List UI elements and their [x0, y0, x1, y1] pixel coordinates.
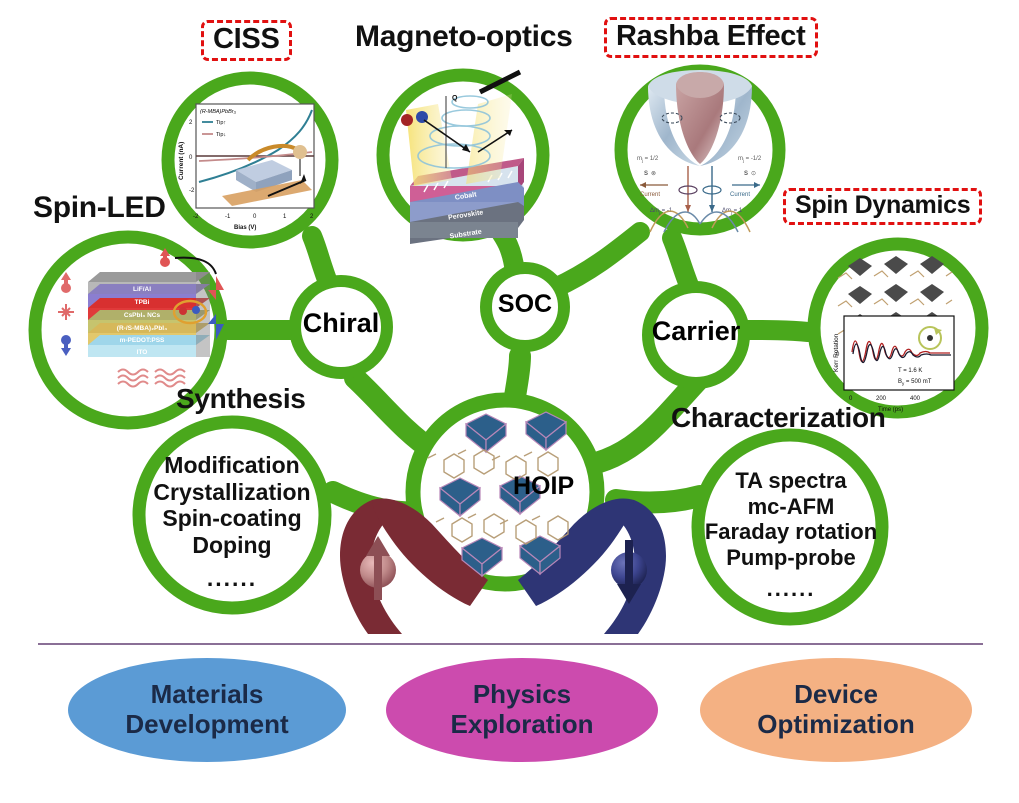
oval-line-1: Physics: [386, 680, 658, 710]
outcome-oval-materials-text: Materials Development: [68, 680, 346, 740]
svg-text:400: 400: [910, 396, 921, 402]
svg-text:CsPbI₃ NCs: CsPbI₃ NCs: [124, 312, 161, 319]
section-divider: [38, 643, 983, 645]
synthesis-ellipsis: ......: [142, 565, 322, 592]
oval-line-1: Materials: [68, 680, 346, 710]
svg-text:Q: Q: [452, 95, 458, 102]
label-rashba-effect: Rashba Effect: [604, 17, 818, 58]
figure-canvas: LiF/Al TPBi CsPbI₃ NCs (R-/S-MBA)₂PbI₄ m…: [0, 0, 1019, 803]
oval-line-2: Optimization: [700, 710, 972, 740]
characterization-item: Pump-probe: [697, 545, 885, 571]
outcome-oval-device[interactable]: Device Optimization: [700, 658, 972, 762]
svg-text:Current: Current: [640, 192, 660, 198]
svg-text:By = 500 mT: By = 500 mT: [898, 379, 932, 386]
svg-text:⊙: ⊙: [751, 171, 756, 177]
characterization-item: Faraday rotation: [697, 519, 885, 545]
synthesis-list: Modification Crystallization Spin-coatin…: [142, 452, 322, 591]
svg-text:mj = 1/2: mj = 1/2: [637, 156, 659, 163]
synthesis-item: Doping: [142, 532, 322, 559]
outcome-oval-device-text: Device Optimization: [700, 680, 972, 740]
svg-text:(R-MBA)PbBr₃: (R-MBA)PbBr₃: [200, 109, 237, 115]
label-characterization: Characterization: [671, 404, 886, 432]
label-synthesis: Synthesis: [176, 385, 306, 413]
oval-line-2: Development: [68, 710, 346, 740]
label-spin-dynamics: Spin Dynamics: [783, 188, 982, 225]
svg-text:⊗: ⊗: [651, 171, 656, 177]
svg-text:Kerr Rotation: Kerr Rotation: [833, 333, 840, 372]
svg-text:Tip↓: Tip↓: [216, 132, 226, 138]
svg-text:m-PEDOT:PSS: m-PEDOT:PSS: [120, 337, 165, 344]
svg-text:S: S: [644, 171, 648, 177]
svg-text:(R-/S-MBA)₂PbI₄: (R-/S-MBA)₂PbI₄: [117, 325, 167, 332]
svg-text:ITO: ITO: [137, 349, 148, 356]
outcome-oval-materials[interactable]: Materials Development: [68, 658, 346, 762]
svg-text:TPBi: TPBi: [135, 299, 150, 306]
svg-text:-1: -1: [225, 214, 231, 220]
synthesis-item: Crystallization: [142, 479, 322, 506]
outcome-oval-physics[interactable]: Physics Exploration: [386, 658, 658, 762]
outcome-oval-physics-text: Physics Exploration: [386, 680, 658, 740]
label-magneto-optics: Magneto-optics: [355, 22, 572, 52]
hub-node-chiral[interactable]: Chiral: [291, 310, 391, 337]
svg-text:Tip↑: Tip↑: [216, 120, 226, 126]
oval-line-1: Device: [700, 680, 972, 710]
label-ciss: CISS: [201, 20, 292, 61]
svg-text:-2: -2: [193, 214, 199, 220]
synthesis-item: Modification: [142, 452, 322, 479]
oval-line-2: Exploration: [386, 710, 658, 740]
svg-text:Current: Current: [730, 192, 750, 198]
svg-text:-2: -2: [189, 188, 195, 194]
characterization-item: mc-AFM: [697, 494, 885, 520]
svg-text:T = 1.6 K: T = 1.6 K: [898, 368, 922, 374]
svg-text:LiF/Al: LiF/Al: [133, 286, 151, 293]
characterization-list: TA spectra mc-AFM Faraday rotation Pump-…: [697, 468, 885, 602]
synthesis-item: Spin-coating: [142, 505, 322, 532]
svg-text:mj = -1/2: mj = -1/2: [738, 156, 762, 163]
hub-node-hoip[interactable]: HOIP: [513, 474, 603, 499]
characterization-ellipsis: ......: [697, 576, 885, 602]
svg-text:Bias (V): Bias (V): [234, 225, 256, 231]
svg-text:S: S: [744, 171, 748, 177]
hub-node-soc[interactable]: SOC: [485, 292, 565, 317]
hub-node-carrier[interactable]: Carrier: [643, 318, 749, 345]
characterization-item: TA spectra: [697, 468, 885, 494]
svg-text:Current (nA): Current (nA): [178, 142, 185, 180]
label-spin-led: Spin-LED: [33, 193, 166, 223]
